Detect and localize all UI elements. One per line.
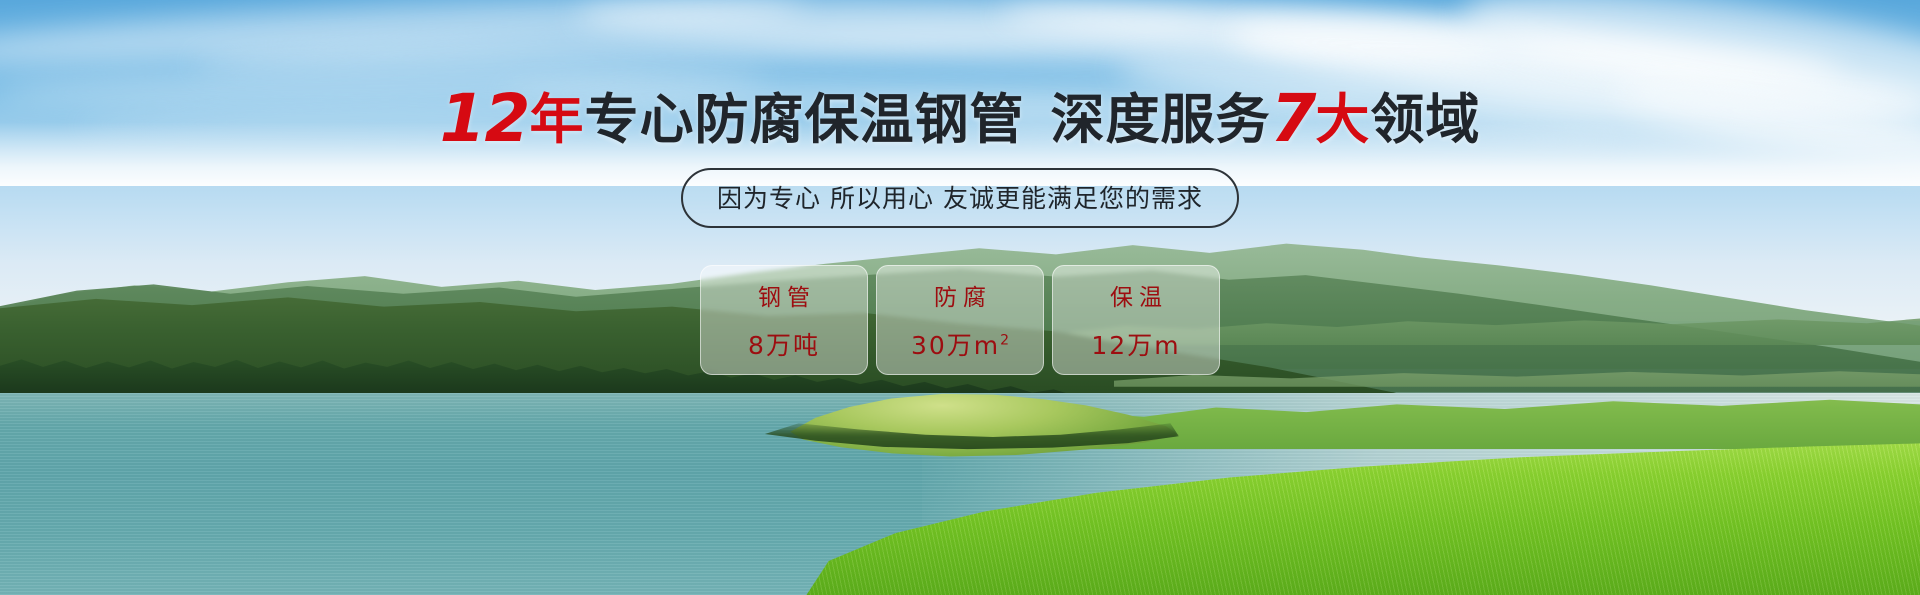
stat-card-label: 保温 — [1104, 278, 1168, 312]
stat-card-value: 8万吨 — [748, 326, 820, 362]
banner-subtitle-wrap: 因为专心 所以用心 友诚更能满足您的需求 — [0, 168, 1920, 228]
banner-subtitle-pill: 因为专心 所以用心 友诚更能满足您的需求 — [681, 168, 1239, 228]
headline-years-unit: 年 — [529, 88, 584, 151]
banner-headline: 12年专心防腐保温钢管深度服务7大领域 — [0, 80, 1920, 158]
headline-fields-unit: 大 — [1315, 88, 1370, 151]
stat-card-anticorrosion: 防腐 30万m2 — [876, 265, 1044, 375]
stat-card-value: 30万m2 — [911, 326, 1009, 362]
cloud-streak-icon — [575, 0, 1498, 78]
stat-card-value-superscript: 2 — [1000, 333, 1009, 349]
stat-card-label: 钢管 — [752, 278, 816, 312]
headline-text-secondary: 深度服务 — [1050, 88, 1270, 151]
headline-text-primary: 专心防腐保温钢管 — [584, 88, 1024, 151]
stat-card-steel-pipe: 钢管 8万吨 — [700, 265, 868, 375]
headline-fields-number: 7 — [1270, 80, 1315, 157]
stat-card-insulation: 保温 12万m — [1052, 265, 1220, 375]
hero-banner: 12年专心防腐保温钢管深度服务7大领域 因为专心 所以用心 友诚更能满足您的需求… — [0, 0, 1920, 595]
stat-card-value: 12万m — [1091, 326, 1180, 362]
stat-card-label: 防腐 — [928, 278, 992, 312]
cloud-streak-icon — [0, 0, 807, 78]
stat-card-value-text: 30万m — [911, 331, 1000, 360]
stat-card-value-text: 12万m — [1091, 331, 1180, 360]
stat-card-value-text: 8万吨 — [748, 331, 820, 360]
cloud-streak-icon — [192, 11, 1191, 80]
headline-text-tertiary: 领域 — [1370, 88, 1480, 151]
stat-card-row: 钢管 8万吨 防腐 30万m2 保温 12万m — [0, 265, 1920, 375]
headline-years-number: 12 — [440, 80, 530, 157]
